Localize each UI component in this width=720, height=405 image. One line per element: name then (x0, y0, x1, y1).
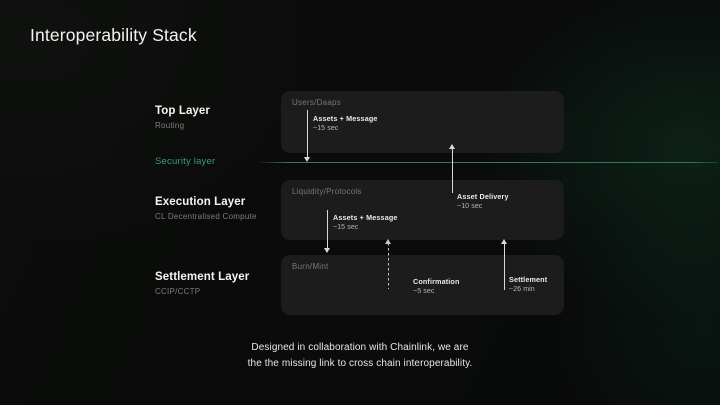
flow-label: Confirmation (413, 277, 460, 287)
caption-line-2: the the missing link to cross chain inte… (0, 356, 720, 372)
flow-duration: ~5 sec (413, 287, 460, 296)
caption: Designed in collaboration with Chainlink… (0, 340, 720, 371)
layer-label-execution: Execution Layer CL Decentralised Compute (155, 195, 257, 223)
flow-label: Asset Delivery (457, 192, 509, 202)
layer-label-top: Top Layer Routing (155, 104, 210, 132)
security-layer-label: Security layer (155, 156, 215, 167)
card-title-liquidity-protocols: Liquidity/Protocols (292, 187, 362, 196)
arrow-shaft (307, 110, 308, 158)
flow-note-confirmation: Confirmation ~5 sec (413, 277, 460, 296)
arrow-head-down-icon (324, 248, 330, 253)
arrow-shaft-dashed (388, 243, 389, 289)
card-title-burn-mint: Burn/Mint (292, 262, 328, 271)
layer-name-top: Top Layer (155, 104, 210, 118)
flow-duration: ~10 sec (457, 202, 509, 211)
caption-line-1: Designed in collaboration with Chainlink… (0, 340, 720, 356)
arrow-head-up-icon (385, 239, 391, 244)
arrow-head-up-icon (501, 239, 507, 244)
flow-note-assets-message-top: Assets + Message ~15 sec (313, 114, 378, 133)
flow-note-assets-message-exec: Assets + Message ~15 sec (333, 213, 398, 232)
arrow-head-up-icon (449, 144, 455, 149)
flow-note-asset-delivery: Asset Delivery ~10 sec (457, 192, 509, 211)
arrow-head-down-icon (304, 157, 310, 162)
slide-canvas: Interoperability Stack Top Layer Routing… (0, 0, 720, 405)
security-layer-line (260, 162, 718, 163)
security-layer-row: Security layer (155, 156, 565, 168)
layer-label-settlement: Settlement Layer CCIP/CCTP (155, 270, 249, 298)
layer-name-execution: Execution Layer (155, 195, 257, 209)
arrow-shaft (504, 243, 505, 290)
flow-duration: ~15 sec (313, 124, 378, 133)
card-execution-layer: Liquidity/Protocols (281, 180, 564, 240)
flow-note-settlement: Settlement ~26 min (509, 275, 547, 294)
flow-label: Assets + Message (333, 213, 398, 223)
flow-duration: ~26 min (509, 285, 547, 294)
layer-name-settlement: Settlement Layer (155, 270, 249, 284)
layer-sub-execution: CL Decentralised Compute (155, 212, 257, 222)
flow-label: Settlement (509, 275, 547, 285)
flow-duration: ~15 sec (333, 223, 398, 232)
flow-label: Assets + Message (313, 114, 378, 124)
arrow-shaft (327, 210, 328, 249)
layer-sub-top: Routing (155, 121, 210, 131)
page-title: Interoperability Stack (30, 25, 197, 46)
card-title-users-daaps: Users/Daaps (292, 98, 341, 107)
layer-sub-settlement: CCIP/CCTP (155, 287, 249, 297)
arrow-shaft (452, 148, 453, 193)
